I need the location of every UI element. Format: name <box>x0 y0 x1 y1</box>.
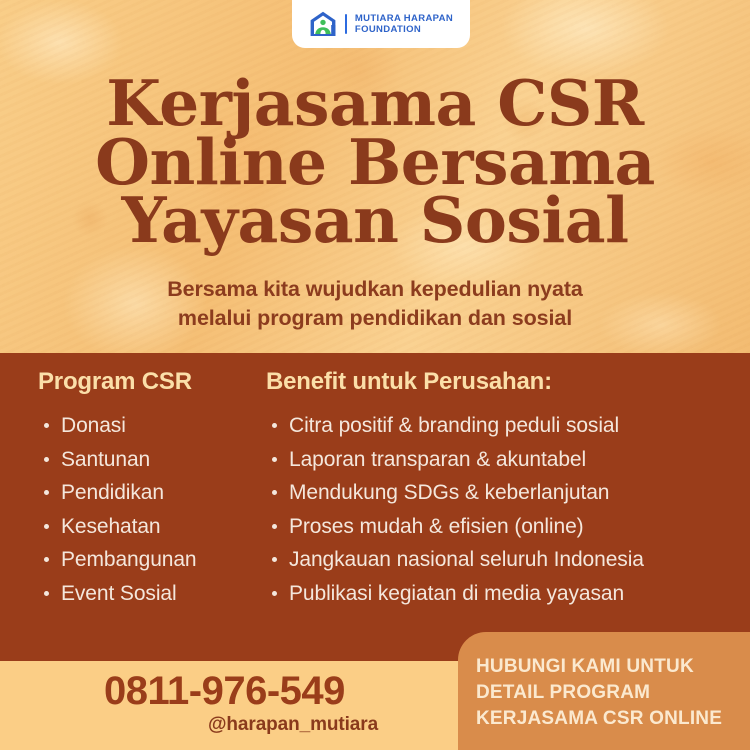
foundation-logo-card: MUTIARA HARAPAN FOUNDATION <box>292 0 470 48</box>
cta-box[interactable]: HUBUNGI KAMI UNTUK DETAIL PROGRAM KERJAS… <box>458 632 750 750</box>
subheadline-line-2: melalui program pendidikan dan sosial <box>0 304 750 333</box>
list-item: Publikasi kegiatan di media yayasan <box>268 583 644 604</box>
list-item: Kesehatan <box>40 516 197 537</box>
benefit-list: Citra positif & branding peduli sosial L… <box>268 415 644 616</box>
list-item: Mendukung SDGs & keberlanjutan <box>268 482 644 503</box>
cta-text: HUBUNGI KAMI UNTUK DETAIL PROGRAM KERJAS… <box>476 654 750 732</box>
program-csr-list: Donasi Santunan Pendidikan Kesehatan Pem… <box>40 415 197 616</box>
cta-line-2: DETAIL PROGRAM <box>476 680 750 706</box>
subheadline-line-1: Bersama kita wujudkan kepedulian nyata <box>0 275 750 304</box>
contact-phone-number[interactable]: 0811-976-549 <box>104 669 345 714</box>
list-item: Donasi <box>40 415 197 436</box>
sub-headline: Bersama kita wujudkan kepedulian nyata m… <box>0 275 750 333</box>
list-item: Pendidikan <box>40 482 197 503</box>
program-csr-heading: Program CSR <box>38 368 192 396</box>
list-item: Jangkauan nasional seluruh Indonesia <box>268 549 644 570</box>
list-item: Citra positif & branding peduli sosial <box>268 415 644 436</box>
cta-line-3: KERJASAMA CSR ONLINE <box>476 706 750 732</box>
list-item: Proses mudah & efisien (online) <box>268 516 644 537</box>
cta-line-1: HUBUNGI KAMI UNTUK <box>476 654 750 680</box>
foundation-name-line1: MUTIARA HARAPAN <box>355 13 453 24</box>
poster-canvas: MUTIARA HARAPAN FOUNDATION Kerjasama CSR… <box>0 0 750 750</box>
logo-divider <box>345 14 347 34</box>
list-item: Pembangunan <box>40 549 197 570</box>
list-item: Santunan <box>40 449 197 470</box>
foundation-name-line2: FOUNDATION <box>355 24 421 35</box>
main-headline: Kerjasama CSR Online Bersama Yayasan Sos… <box>0 74 750 250</box>
social-handle[interactable]: @harapan_mutiara <box>208 714 378 736</box>
foundation-name: MUTIARA HARAPAN FOUNDATION <box>355 13 453 35</box>
house-people-logo-icon <box>309 11 337 37</box>
content-panel: Program CSR Donasi Santunan Pendidikan K… <box>0 353 750 661</box>
headline-line-1: Kerjasama CSR <box>0 74 750 133</box>
list-item: Laporan transparan & akuntabel <box>268 449 644 470</box>
list-item: Event Sosial <box>40 583 197 604</box>
benefit-heading: Benefit untuk Perusahan: <box>266 368 552 396</box>
headline-line-3: Yayasan Sosial <box>0 191 750 250</box>
